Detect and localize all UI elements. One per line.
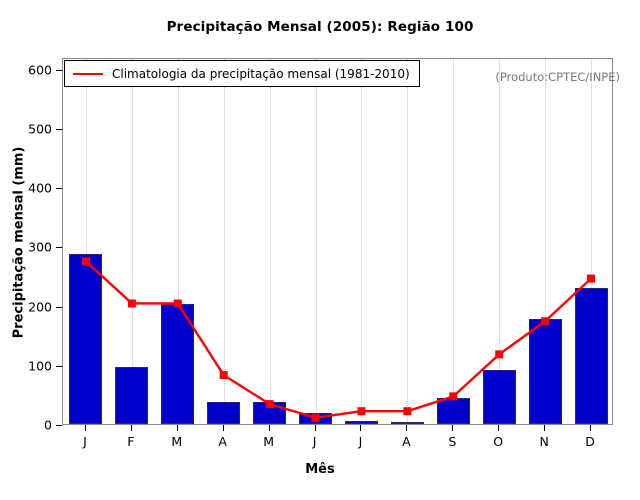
x-tick-label: M (157, 434, 197, 449)
y-tick-mark (56, 129, 62, 130)
y-tick-mark (56, 307, 62, 308)
legend-line-swatch (73, 73, 103, 75)
line-marker (403, 407, 411, 415)
x-tick-label: M (249, 434, 289, 449)
line-marker (449, 392, 457, 400)
line-marker (220, 371, 228, 379)
line-marker (266, 400, 274, 408)
x-tick-mark (223, 425, 224, 431)
legend-item-label: Climatologia da precipitação mensal (198… (112, 67, 410, 81)
x-axis-label: Mês (0, 462, 640, 477)
y-tick-mark (56, 366, 62, 367)
x-tick-label: A (203, 434, 243, 449)
x-tick-label: N (524, 434, 564, 449)
line-marker (82, 257, 90, 265)
x-tick-label: J (340, 434, 380, 449)
x-tick-label: F (111, 434, 151, 449)
x-tick-label: J (65, 434, 105, 449)
x-tick-mark (452, 425, 453, 431)
product-annotation: (Produto:CPTEC/INPE) (495, 70, 620, 84)
y-tick-mark (56, 188, 62, 189)
plot-area (62, 58, 613, 425)
chart-figure: Precipitação Mensal (2005): Região 100 0… (0, 0, 640, 500)
x-tick-mark (315, 425, 316, 431)
x-tick-label: S (432, 434, 472, 449)
x-tick-mark (498, 425, 499, 431)
x-axis: JFMAMJJASOND (0, 425, 640, 453)
line-marker (357, 407, 365, 415)
y-tick-mark (56, 70, 62, 71)
y-tick-mark (56, 247, 62, 248)
x-tick-mark (406, 425, 407, 431)
x-tick-mark (590, 425, 591, 431)
x-tick-mark (360, 425, 361, 431)
x-tick-mark (85, 425, 86, 431)
y-tick-label: 600 (0, 62, 52, 77)
legend: Climatologia da precipitação mensal (198… (64, 60, 420, 87)
x-tick-mark (269, 425, 270, 431)
line-marker (541, 317, 549, 325)
x-tick-mark (544, 425, 545, 431)
line-marker (312, 414, 320, 422)
climatology-line-series (63, 59, 613, 425)
x-tick-mark (131, 425, 132, 431)
line-marker (174, 299, 182, 307)
climatology-line-path (86, 261, 591, 417)
x-tick-label: A (386, 434, 426, 449)
y-axis-label: Precipitação mensal (mm) (12, 123, 27, 363)
x-tick-label: O (478, 434, 518, 449)
line-marker (495, 350, 503, 358)
x-tick-mark (177, 425, 178, 431)
x-tick-label: J (295, 434, 335, 449)
page-title: Precipitação Mensal (2005): Região 100 (0, 19, 640, 35)
line-marker (128, 299, 136, 307)
line-marker (587, 275, 595, 283)
x-tick-label: D (570, 434, 610, 449)
